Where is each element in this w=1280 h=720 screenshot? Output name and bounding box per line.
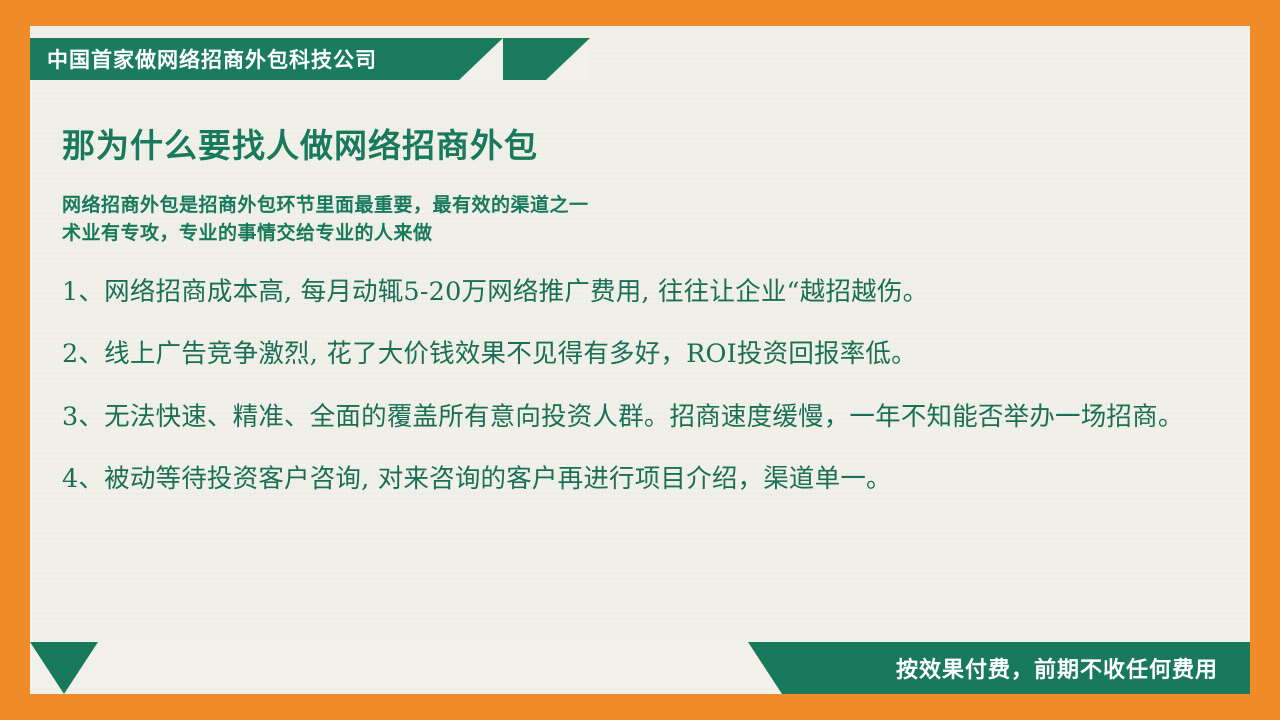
subtitle-block: 网络招商外包是招商外包环节里面最重要，最有效的渠道之一 术业有专攻，专业的事情交… <box>62 192 1192 249</box>
slide-content: 那为什么要找人做网络招商外包 网络招商外包是招商外包环节里面最重要，最有效的渠道… <box>62 126 1192 523</box>
ribbon-notch <box>546 38 590 80</box>
list-item: 4、被动等待投资客户咨询, 对来咨询的客户再进行项目介绍，渠道单一。 <box>62 461 1192 497</box>
page-title: 那为什么要找人做网络招商外包 <box>62 126 1192 166</box>
subtitle-line-1: 网络招商外包是招商外包环节里面最重要，最有效的渠道之一 <box>62 192 1192 221</box>
ribbon-tail-cut <box>459 38 503 80</box>
footer-left-cut <box>30 642 64 694</box>
list-item: 1、网络招商成本高, 每月动辄5-20万网络推广费用, 往往让企业“越招越伤。 <box>62 274 1192 310</box>
footer-left-cut-2 <box>64 642 98 694</box>
list-item: 3、无法快速、精准、全面的覆盖所有意向投资人群。招商速度缓慢，一年不知能否举办一… <box>62 399 1192 435</box>
list-item: 2、线上广告竞争激烈, 花了大价钱效果不见得有多好，ROI投资回报率低。 <box>62 336 1192 372</box>
footer-text: 按效果付费，前期不收任何费用 <box>896 652 1218 684</box>
header-ribbon-text: 中国首家做网络招商外包科技公司 <box>47 44 377 74</box>
subtitle-line-2: 术业有专攻，专业的事情交给专业的人来做 <box>62 220 1192 249</box>
slide: 中国首家做网络招商外包科技公司 那为什么要找人做网络招商外包 网络招商外包是招商… <box>0 0 1280 720</box>
bullet-list: 1、网络招商成本高, 每月动辄5-20万网络推广费用, 往往让企业“越招越伤。 … <box>62 274 1192 497</box>
footer-strip-diagonal <box>748 642 782 694</box>
footer-paper-strip <box>98 642 748 694</box>
ribbon-tail-fill <box>503 38 547 80</box>
